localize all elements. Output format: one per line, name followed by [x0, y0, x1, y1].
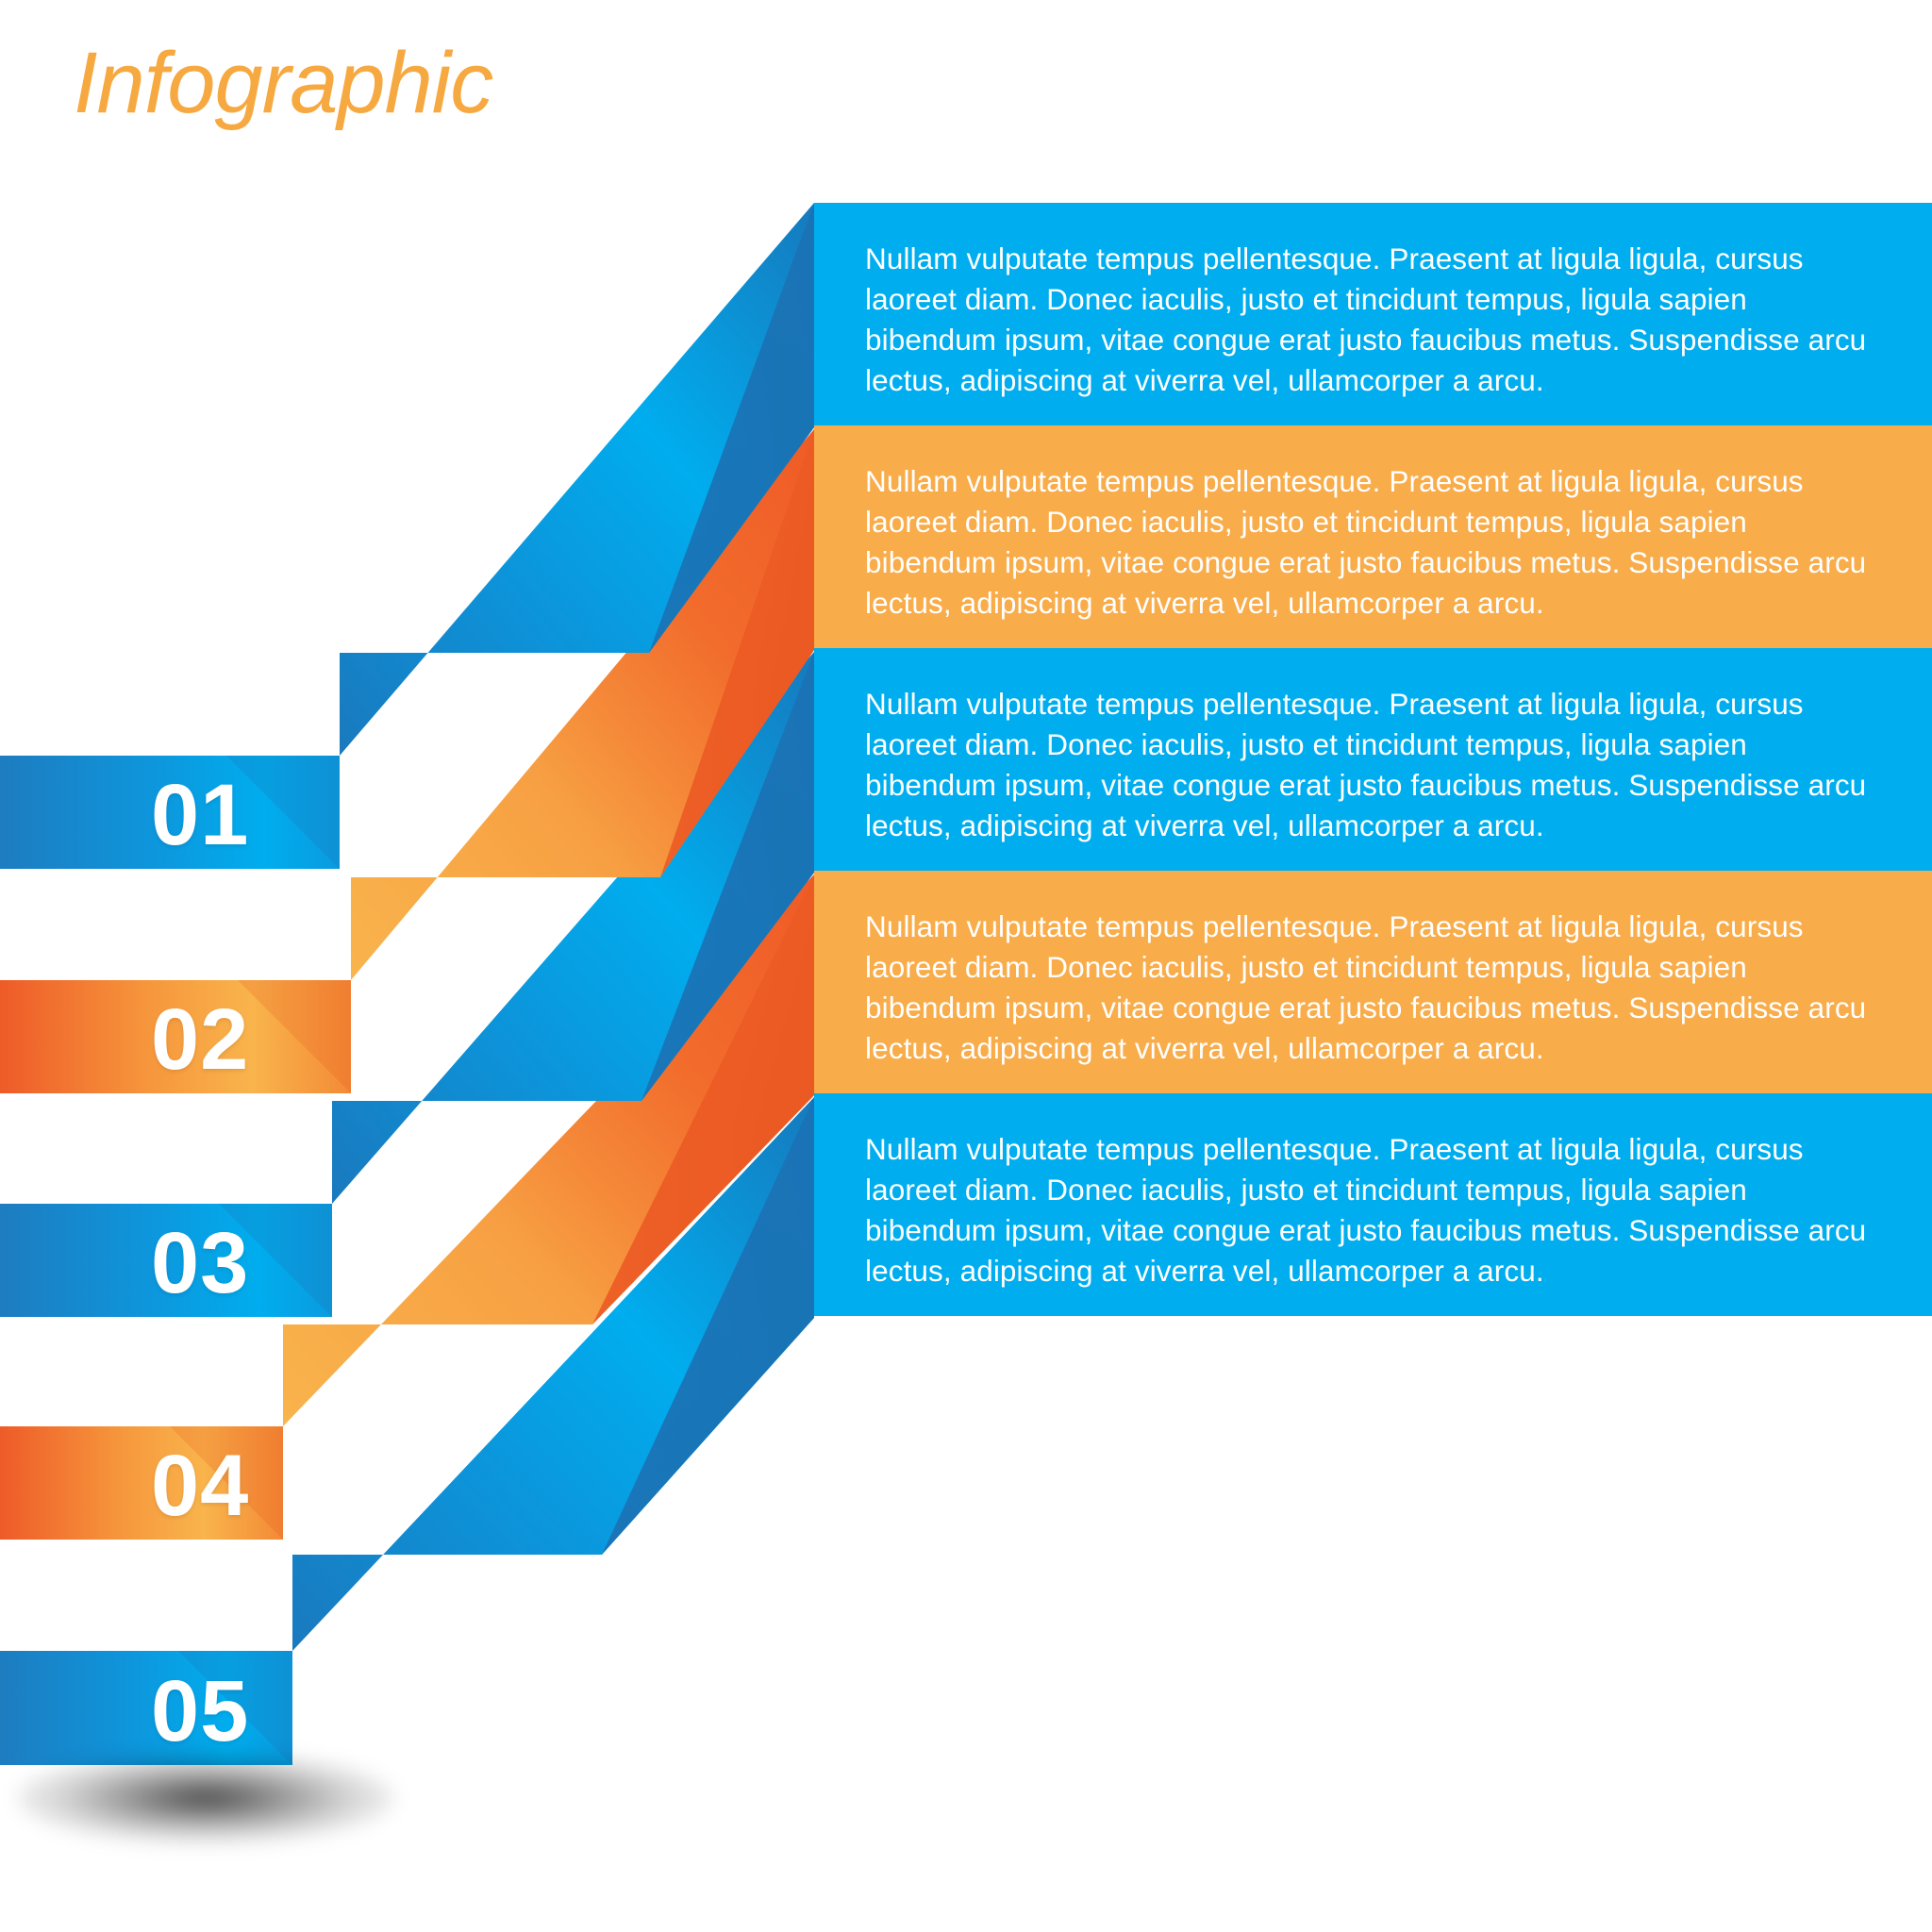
step-number-05[interactable]: 05 [151, 1668, 249, 1755]
step-number-02[interactable]: 02 [151, 996, 249, 1083]
infographic-canvas: Infographic [0, 0, 1932, 1932]
content-panel-05[interactable]: Nullam vulputate tempus pellentesque. Pr… [814, 1093, 1932, 1316]
step-number-03[interactable]: 03 [151, 1220, 249, 1307]
step-number-04[interactable]: 04 [151, 1442, 249, 1529]
step-number-01[interactable]: 01 [151, 772, 249, 858]
content-panel-02[interactable]: Nullam vulputate tempus pellentesque. Pr… [814, 425, 1932, 648]
drop-shadow-ellipse [17, 1753, 394, 1843]
content-panel-stack: Nullam vulputate tempus pellentesque. Pr… [814, 203, 1932, 1316]
panel-body-text-03: Nullam vulputate tempus pellentesque. Pr… [865, 684, 1875, 846]
panel-body-text-01: Nullam vulputate tempus pellentesque. Pr… [865, 239, 1875, 401]
content-panel-03[interactable]: Nullam vulputate tempus pellentesque. Pr… [814, 648, 1932, 871]
panel-body-text-04: Nullam vulputate tempus pellentesque. Pr… [865, 907, 1875, 1069]
panel-body-text-02: Nullam vulputate tempus pellentesque. Pr… [865, 461, 1875, 624]
panel-body-text-05: Nullam vulputate tempus pellentesque. Pr… [865, 1129, 1875, 1291]
content-panel-04[interactable]: Nullam vulputate tempus pellentesque. Pr… [814, 871, 1932, 1093]
content-panel-01[interactable]: Nullam vulputate tempus pellentesque. Pr… [814, 203, 1932, 425]
